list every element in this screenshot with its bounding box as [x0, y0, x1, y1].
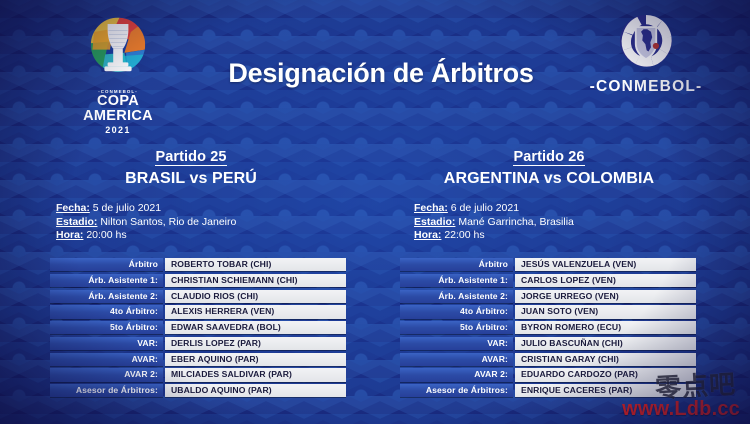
official-name: ALEXIS HERRERA (VEN): [165, 305, 346, 318]
table-row: AVAR:EBER AQUINO (PAR): [50, 353, 346, 366]
match-heading: Partido 25 BRASIL vs PERÚ: [32, 148, 350, 188]
table-row: VAR:DERLIS LOPEZ (PAR): [50, 337, 346, 350]
referee-table-match-25: ÁrbitroROBERTO TOBAR (CHI) Árb. Asistent…: [50, 258, 346, 400]
match-block-25: Partido 25 BRASIL vs PERÚ Fecha: 5 de ju…: [32, 148, 350, 243]
table-row: AVAR 2:MILCIADES SALDIVAR (PAR): [50, 368, 346, 381]
match-info: Fecha: 6 de julio 2021 Estadio: Mané Gar…: [390, 202, 708, 243]
official-role: Asesor de Árbitros:: [50, 384, 163, 397]
official-role: VAR:: [50, 337, 163, 350]
table-row: ÁrbitroROBERTO TOBAR (CHI): [50, 258, 346, 271]
official-role: Árb. Asistente 2:: [50, 290, 163, 303]
official-name: EDUARDO CARDOZO (PAR): [515, 368, 696, 381]
copa-america-logo: -CONMEBOL- COPA AMERICA 2021: [64, 8, 172, 124]
match-info-hora-key: Hora:: [414, 229, 441, 241]
official-role: Árb. Asistente 1:: [400, 274, 513, 287]
match-heading: Partido 26 ARGENTINA vs COLOMBIA: [390, 148, 708, 188]
match-info-estadio-key: Estadio:: [414, 216, 455, 228]
official-name: CARLOS LOPEZ (VEN): [515, 274, 696, 287]
table-row: 4to Árbitro:ALEXIS HERRERA (VEN): [50, 305, 346, 318]
match-info-hora-key: Hora:: [56, 229, 83, 241]
match-info-fecha-key: Fecha:: [56, 202, 90, 214]
match-info: Fecha: 5 de julio 2021 Estadio: Nilton S…: [32, 202, 350, 243]
official-role: Árb. Asistente 2:: [400, 290, 513, 303]
header: -CONMEBOL- COPA AMERICA 2021 Designación…: [0, 0, 750, 132]
conmebol-logo: -CONMEBOL-: [578, 10, 714, 120]
table-row: 4to Árbitro:JUAN SOTO (VEN): [400, 305, 696, 318]
referee-designation-graphic: -CONMEBOL- COPA AMERICA 2021 Designación…: [0, 0, 750, 424]
official-name: UBALDO AQUINO (PAR): [165, 384, 346, 397]
copa-logo-year: 2021: [64, 125, 172, 135]
table-row: 5to Árbitro:EDWAR SAAVEDRA (BOL): [50, 321, 346, 334]
official-role: AVAR:: [50, 353, 163, 366]
official-role: AVAR 2:: [50, 368, 163, 381]
match-info-estadio-key: Estadio:: [56, 216, 97, 228]
copa-logo-name: COPA AMERICA: [64, 94, 172, 124]
official-role: 4to Árbitro:: [50, 305, 163, 318]
table-row: AVAR:CRISTIAN GARAY (CHI): [400, 353, 696, 366]
table-row: ÁrbitroJESÚS VALENZUELA (VEN): [400, 258, 696, 271]
official-role: Árbitro: [50, 258, 163, 271]
official-name: ENRIQUE CACERES (PAR): [515, 384, 696, 397]
match-number: Partido 26: [513, 149, 584, 166]
match-info-estadio: Estadio: Nilton Santos, Rio de Janeiro: [56, 216, 350, 230]
official-name: DERLIS LOPEZ (PAR): [165, 337, 346, 350]
official-name: CRISTIAN GARAY (CHI): [515, 353, 696, 366]
match-info-estadio-value: Mané Garrincha, Brasilia: [455, 216, 573, 228]
match-teams: ARGENTINA vs COLOMBIA: [390, 170, 708, 188]
referee-table-match-26: ÁrbitroJESÚS VALENZUELA (VEN) Árb. Asist…: [400, 258, 696, 400]
official-role: 5to Árbitro:: [400, 321, 513, 334]
table-row: AVAR 2:EDUARDO CARDOZO (PAR): [400, 368, 696, 381]
table-row: Árb. Asistente 2:JORGE URREGO (VEN): [400, 290, 696, 303]
table-row: VAR:JULIO BASCUÑAN (CHI): [400, 337, 696, 350]
official-name: JUAN SOTO (VEN): [515, 305, 696, 318]
official-role: Árbitro: [400, 258, 513, 271]
match-info-fecha: Fecha: 6 de julio 2021: [414, 202, 708, 216]
match-info-fecha-key: Fecha:: [414, 202, 448, 214]
official-role: Asesor de Árbitros:: [400, 384, 513, 397]
match-info-hora: Hora: 22:00 hs: [414, 229, 708, 243]
match-number: Partido 25: [155, 149, 226, 166]
official-role: 4to Árbitro:: [400, 305, 513, 318]
official-name: CHRISTIAN SCHIEMANN (CHI): [165, 274, 346, 287]
official-role: AVAR:: [400, 353, 513, 366]
match-info-fecha-value: 5 de julio 2021: [90, 202, 161, 214]
official-name: EDWAR SAAVEDRA (BOL): [165, 321, 346, 334]
table-row: Árb. Asistente 1:CHRISTIAN SCHIEMANN (CH…: [50, 274, 346, 287]
match-info-estadio: Estadio: Mané Garrincha, Brasilia: [414, 216, 708, 230]
official-name: BYRON ROMERO (ECU): [515, 321, 696, 334]
official-name: EBER AQUINO (PAR): [165, 353, 346, 366]
match-teams: BRASIL vs PERÚ: [32, 170, 350, 188]
match-info-estadio-value: Nilton Santos, Rio de Janeiro: [97, 216, 236, 228]
table-row: Árb. Asistente 2:CLAUDIO RIOS (CHI): [50, 290, 346, 303]
official-role: 5to Árbitro:: [50, 321, 163, 334]
official-name: CLAUDIO RIOS (CHI): [165, 290, 346, 303]
table-row: 5to Árbitro:BYRON ROMERO (ECU): [400, 321, 696, 334]
conmebol-shield-icon: [615, 10, 677, 72]
conmebol-wordmark: -CONMEBOL-: [578, 78, 714, 96]
official-role: Árb. Asistente 1:: [50, 274, 163, 287]
table-row: Árb. Asistente 1:CARLOS LOPEZ (VEN): [400, 274, 696, 287]
page-title: Designación de Árbitros: [186, 58, 576, 89]
copa-america-trophy-icon: [78, 8, 158, 88]
match-info-fecha-value: 6 de julio 2021: [448, 202, 519, 214]
match-info-hora: Hora: 20:00 hs: [56, 229, 350, 243]
match-block-26: Partido 26 ARGENTINA vs COLOMBIA Fecha: …: [390, 148, 708, 243]
match-info-fecha: Fecha: 5 de julio 2021: [56, 202, 350, 216]
official-role: AVAR 2:: [400, 368, 513, 381]
match-info-hora-value: 22:00 hs: [441, 229, 484, 241]
match-info-hora-value: 20:00 hs: [83, 229, 126, 241]
official-name: JORGE URREGO (VEN): [515, 290, 696, 303]
table-row: Asesor de Árbitros:UBALDO AQUINO (PAR): [50, 384, 346, 397]
official-name: JESÚS VALENZUELA (VEN): [515, 258, 696, 271]
official-name: MILCIADES SALDIVAR (PAR): [165, 368, 346, 381]
official-name: ROBERTO TOBAR (CHI): [165, 258, 346, 271]
table-row: Asesor de Árbitros:ENRIQUE CACERES (PAR): [400, 384, 696, 397]
official-role: VAR:: [400, 337, 513, 350]
official-name: JULIO BASCUÑAN (CHI): [515, 337, 696, 350]
